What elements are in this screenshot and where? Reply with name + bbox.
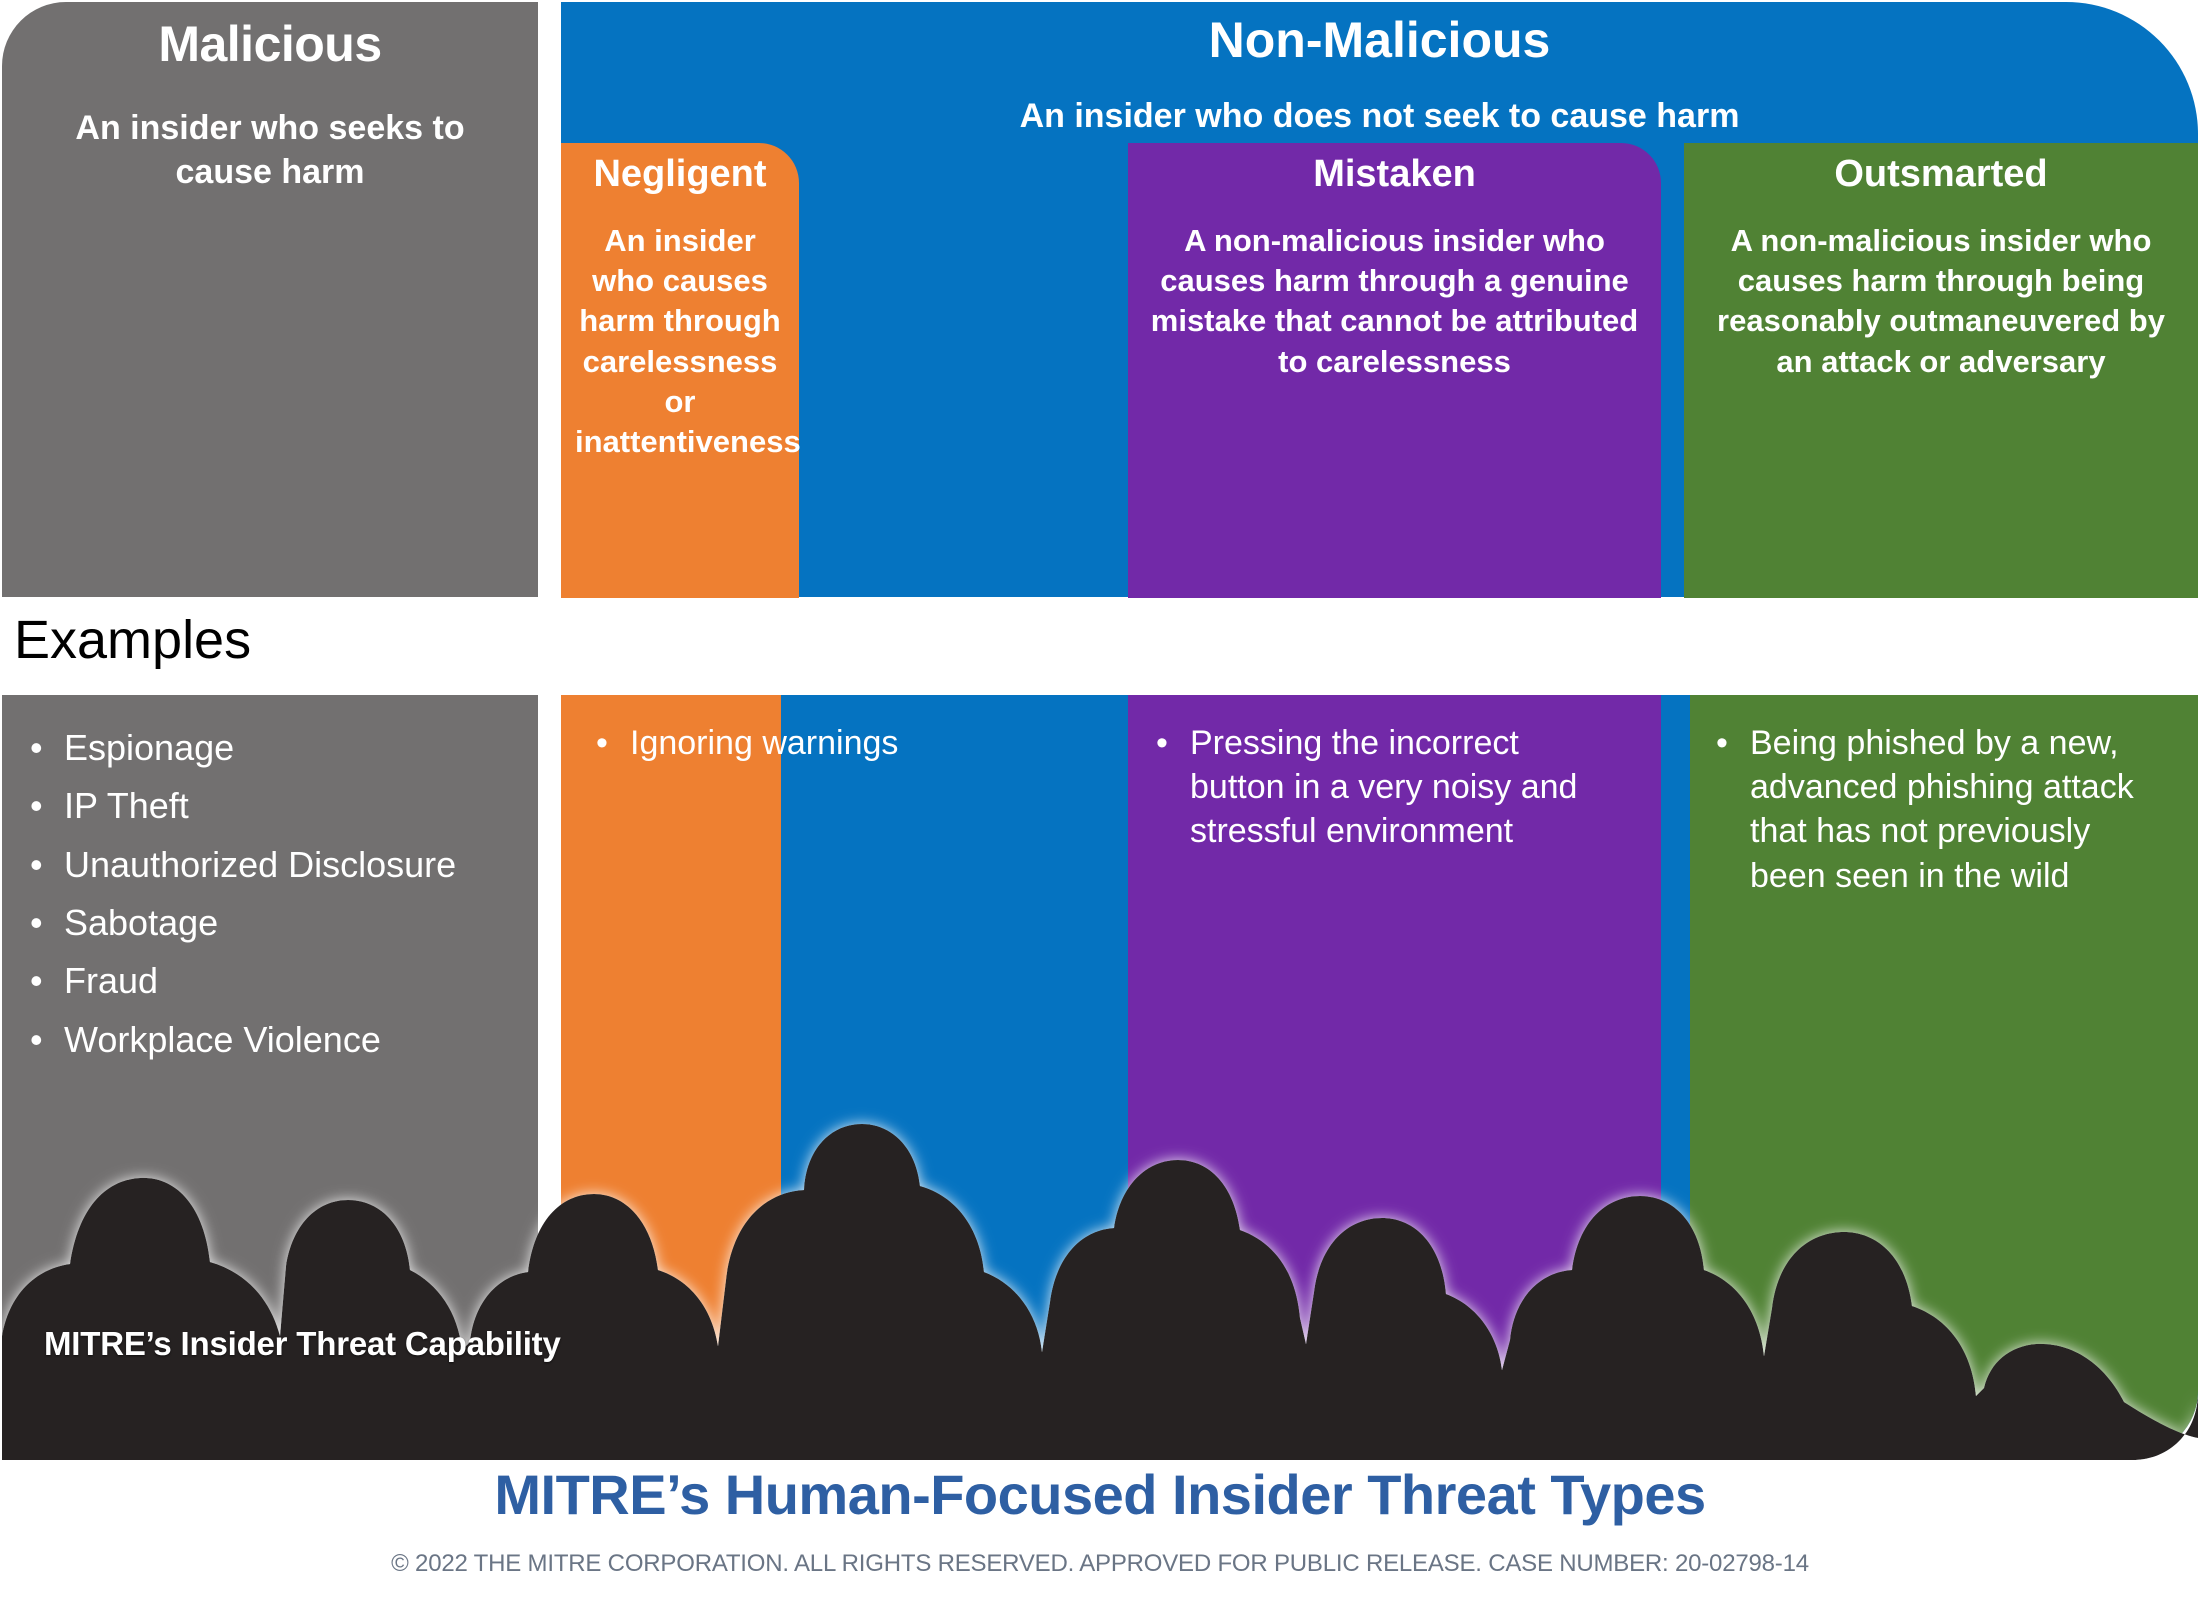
list-item: Being phished by a new, advanced phishin…: [1708, 721, 2168, 898]
examples-label: Examples: [14, 613, 251, 667]
mistaken-title: Mistaken: [1142, 153, 1647, 197]
list-item: Ignoring warnings: [588, 721, 1018, 765]
outsmarted-description: A non-malicious insider who causes harm …: [1698, 221, 2184, 382]
negligent-title: Negligent: [575, 153, 785, 197]
negligent-example-list: Ignoring warnings: [588, 721, 1018, 765]
malicious-description: An insider who seeks to cause harm: [20, 106, 520, 194]
malicious-title: Malicious: [20, 16, 520, 72]
infographic-root: Malicious An insider who seeks to cause …: [0, 0, 2200, 1598]
mistaken-subcategory-text: Mistaken A non-malicious insider who cau…: [1128, 143, 1661, 382]
outsmarted-example-list: Being phished by a new, advanced phishin…: [1708, 721, 2168, 898]
list-item: Workplace Violence: [22, 1011, 522, 1069]
malicious-example-list: EspionageIP TheftUnauthorized Disclosure…: [22, 719, 522, 1069]
list-item: Fraud: [22, 952, 522, 1010]
negligent-description: An insider who causes harm through carel…: [575, 221, 785, 463]
list-item: Espionage: [22, 719, 522, 777]
category-header-row: Malicious An insider who seeks to cause …: [0, 0, 2200, 600]
list-item: Sabotage: [22, 894, 522, 952]
non-malicious-title: Non-Malicious: [561, 12, 2198, 69]
outsmarted-subcategory-text: Outsmarted A non-malicious insider who c…: [1684, 143, 2198, 382]
non-malicious-description: An insider who does not seek to cause ha…: [561, 97, 2198, 136]
negligent-subcategory-text: Negligent An insider who causes harm thr…: [561, 143, 799, 462]
negligent-examples-panel: [561, 695, 781, 1455]
outsmarted-title: Outsmarted: [1698, 153, 2184, 197]
footer-title: MITRE’s Human-Focused Insider Threat Typ…: [0, 1462, 2200, 1527]
mistaken-description: A non-malicious insider who causes harm …: [1142, 221, 1647, 382]
list-item: IP Theft: [22, 777, 522, 835]
mistaken-example-list: Pressing the incorrect button in a very …: [1148, 721, 1618, 854]
capability-caption: MITRE’s Insider Threat Capability: [44, 1325, 561, 1363]
malicious-category-box: Malicious An insider who seeks to cause …: [2, 2, 538, 597]
footer-legal-text: © 2022 THE MITRE CORPORATION. ALL RIGHTS…: [0, 1550, 2200, 1578]
list-item: Pressing the incorrect button in a very …: [1148, 721, 1618, 854]
list-item: Unauthorized Disclosure: [22, 836, 522, 894]
